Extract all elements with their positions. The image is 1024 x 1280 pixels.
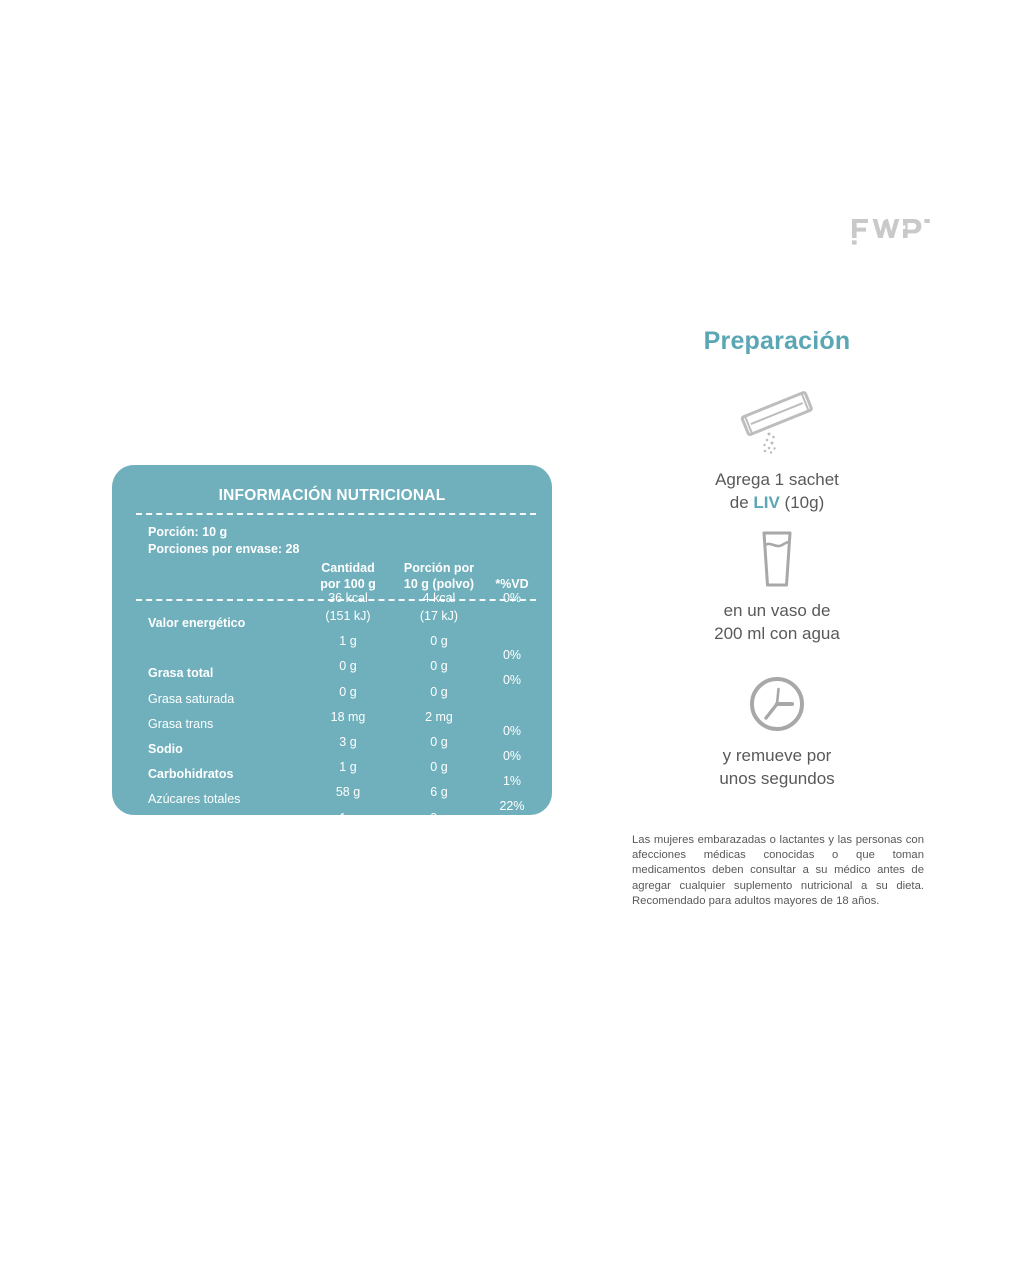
column-header-per-100g-line2: por 100 g [306,576,390,592]
preparation-heading: Preparación [624,327,930,356]
fwp-logo [852,216,930,246]
cell-value: (151 kJ) [306,604,390,629]
step-2-caption-line1: en un vaso de [624,599,930,622]
servings-per-container: Porciones por envase: 28 [148,541,299,558]
energy-kcal-vd: 0% [484,591,540,605]
values-column-vd: 0% 0% 0% 0% 1% 22% 0% [484,643,540,845]
sachet-icon [729,382,825,460]
serving-info: Porción: 10 g Porciones por envase: 28 [148,524,299,557]
cell-value: 0 g [390,730,488,755]
table-row [148,636,308,661]
column-header-vd: *%VD [484,576,540,592]
energy-kcal-per-serving: 4 kcal [390,591,488,605]
cell-value: 1 g [306,755,390,780]
values-column-per-serving: (17 kJ) 0 g 0 g 0 g 2 mg 0 g 0 g 6 g 0 g [390,604,488,831]
cell-value: 0% [484,819,540,844]
cell-value: 1% [484,769,540,794]
cell-value: 2 mg [390,705,488,730]
table-row: Grasa total [148,661,308,686]
table-row: Valor energético [148,611,308,636]
step-1-caption-line2: de LIV (10g) [624,491,930,514]
nutrition-facts-panel: INFORMACIÓN NUTRICIONAL Porción: 10 g Po… [112,465,552,815]
step-3-caption-line1: y remueve por [624,744,930,767]
energy-kcal-per-100g: 36 kcal [306,591,390,605]
column-header-per-100g: Cantidad por 100 g [306,560,390,592]
step-1-caption: Agrega 1 sachet de LIV (10g) [624,468,930,514]
table-row: Proteínas (g) [148,838,308,863]
nutrient-name-column: Valor energético Grasa total Grasa satur… [148,611,308,863]
glass-icon [750,527,804,591]
serving-size: Porción: 10 g [148,524,299,541]
preparation-step-1: Agrega 1 sachet de LIV (10g) [624,382,930,514]
cell-value: 0 g [390,755,488,780]
page-title: INFORMACIÓN NUTRICIONAL [112,487,552,505]
divider-top [136,513,536,515]
product-name-liv: LIV [753,493,779,512]
cell-value: 0% [484,719,540,744]
disclaimer-text: Las mujeres embarazadas o lactantes y la… [632,833,924,909]
table-row: Sodio [148,737,308,762]
cell-value [484,693,540,718]
cell-value: 0 g [390,680,488,705]
table-row: Fibra dietética [148,813,308,838]
preparation-step-3: y remueve por unos segundos [624,672,930,790]
step-2-caption: en un vaso de 200 ml con agua [624,599,930,645]
step-1-prefix: de [730,493,754,512]
table-row: Carbohidratos [148,762,308,787]
cell-value: 1 g [306,806,390,831]
cell-value: 6 g [390,780,488,805]
table-row: Grasa trans [148,712,308,737]
step-3-caption: y remueve por unos segundos [624,744,930,790]
column-header-per-serving-line2: 10 g (polvo) [390,576,488,592]
table-row: Grasa saturada [148,687,308,712]
step-1-caption-line1: Agrega 1 sachet [624,468,930,491]
column-header-per-serving: Porción por 10 g (polvo) [390,560,488,592]
preparation-column: Preparación Agrega 1 sachet [624,0,930,1280]
cell-value: (17 kJ) [390,604,488,629]
column-header-per-100g-line1: Cantidad [306,560,390,576]
column-header-per-serving-line1: Porción por [390,560,488,576]
cell-value: 0 g [390,806,488,831]
values-column-per-100g: (151 kJ) 1 g 0 g 0 g 18 mg 3 g 1 g 58 g … [306,604,390,831]
cell-value: 0 g [306,680,390,705]
cell-value: 22% [484,794,540,819]
step-1-suffix: (10g) [780,493,824,512]
cell-value: 0% [484,668,540,693]
table-row: Azúcares totales [148,787,308,812]
cell-value: 18 mg [306,705,390,730]
cell-value: 0 g [390,654,488,679]
clock-icon [745,672,809,736]
cell-value: 1 g [306,629,390,654]
cell-value: 0% [484,643,540,668]
cell-value: 0% [484,744,540,769]
preparation-step-2: en un vaso de 200 ml con agua [624,527,930,645]
step-2-caption-line2: 200 ml con agua [624,622,930,645]
step-3-caption-line2: unos segundos [624,767,930,790]
cell-value: 0 g [390,629,488,654]
cell-value: 3 g [306,730,390,755]
cell-value: 58 g [306,780,390,805]
cell-value: 0 g [306,654,390,679]
